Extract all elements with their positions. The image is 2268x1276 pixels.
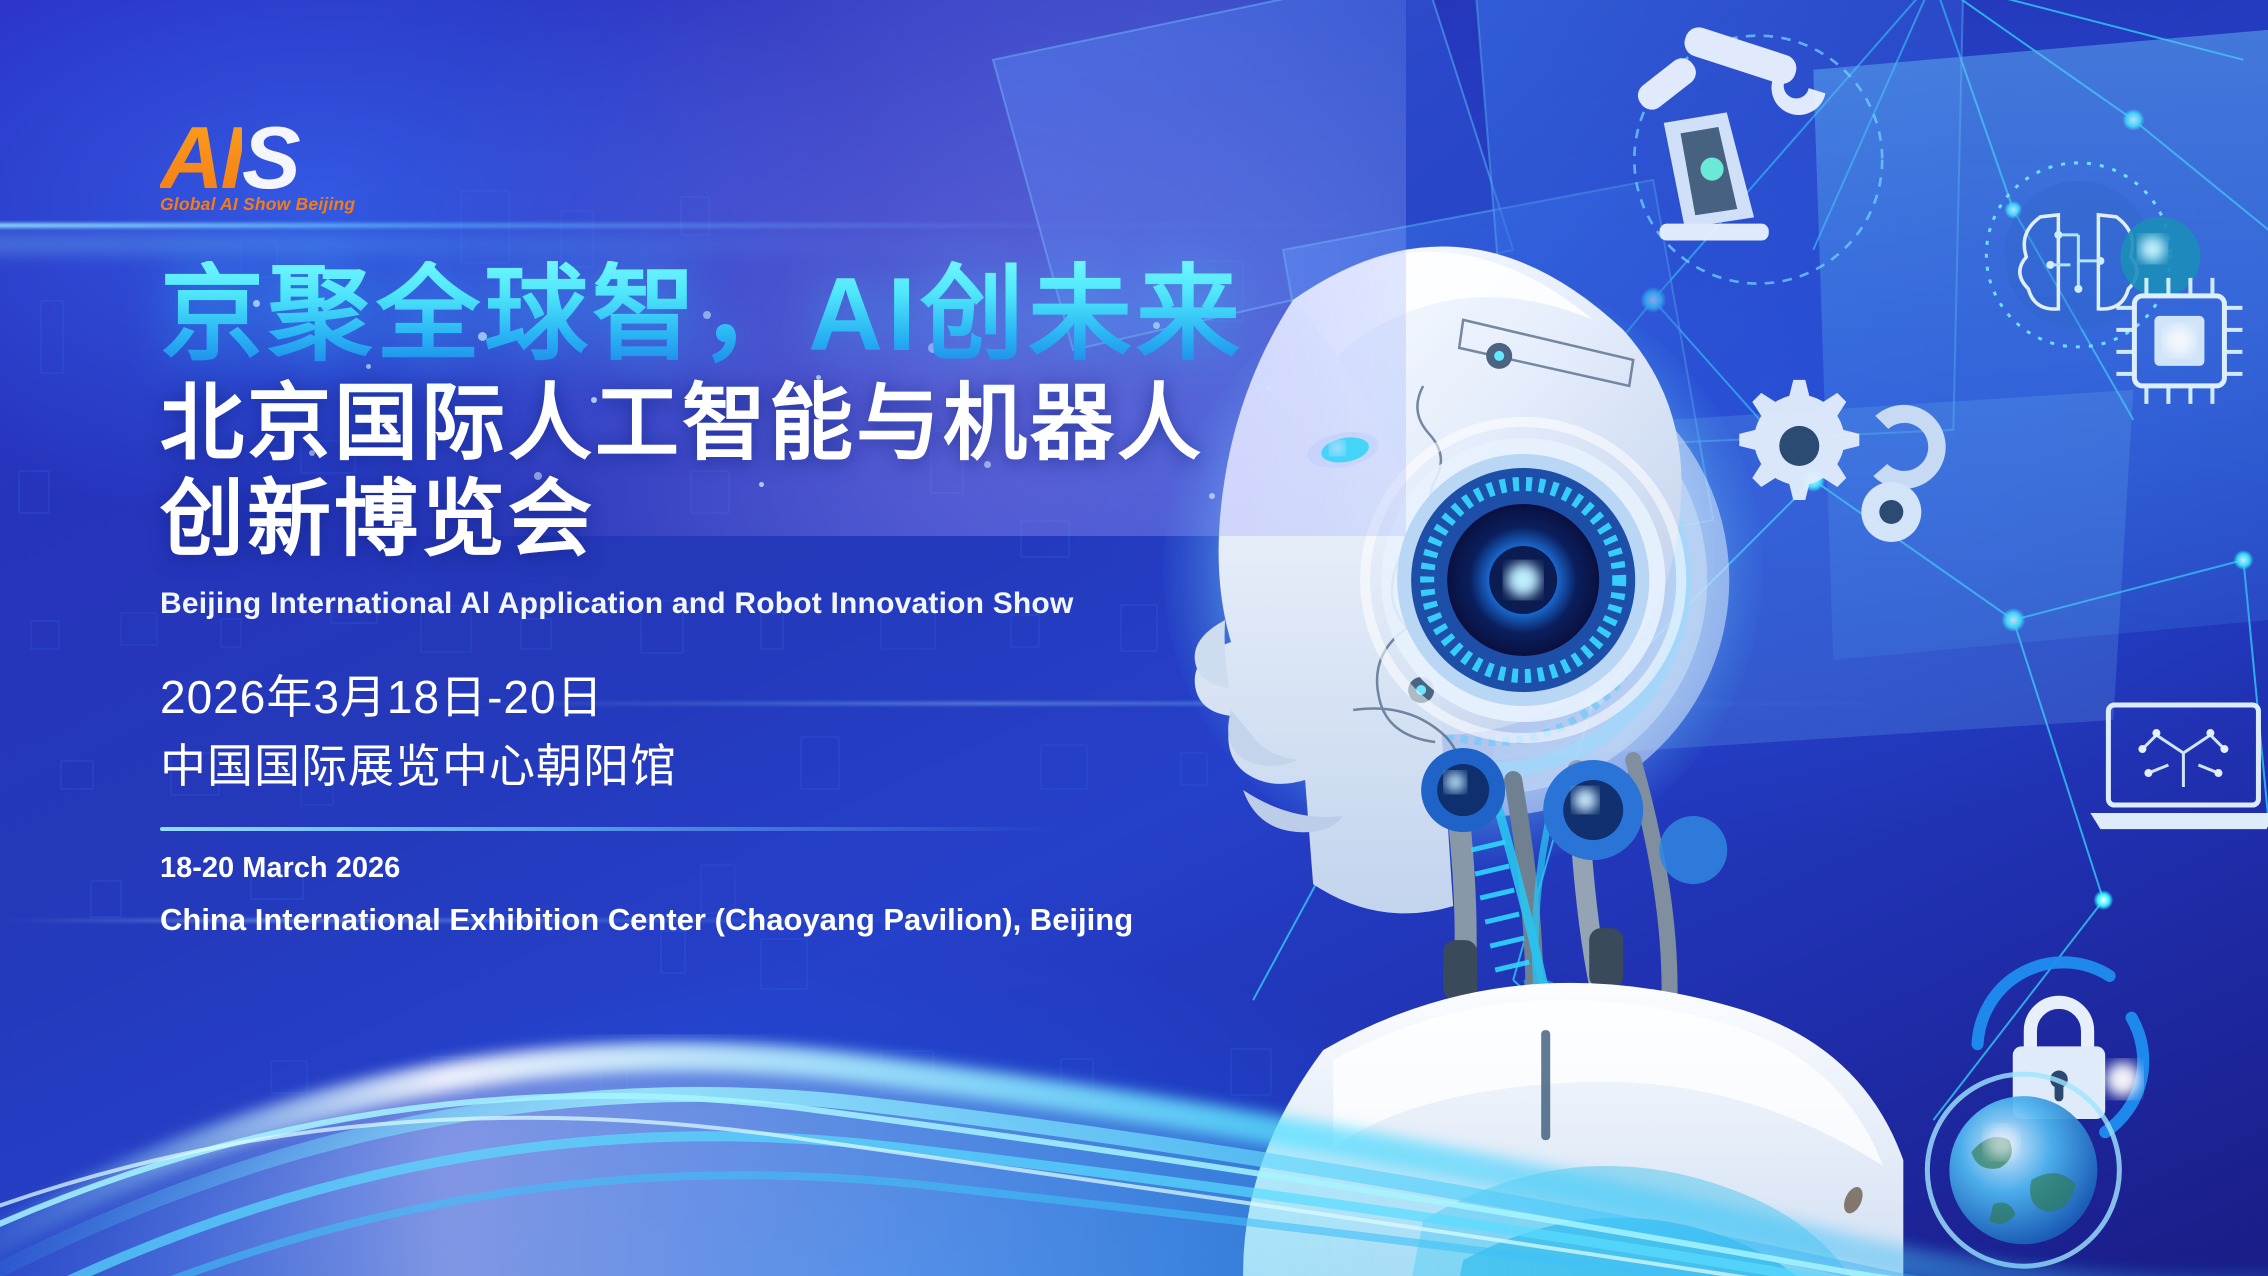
ais-logo: AIS Global AI Show Beijing xyxy=(160,116,360,215)
event-date-cn: 2026年3月18日-20日 xyxy=(160,663,1420,732)
logo-s-text: S xyxy=(242,108,298,207)
cpu-chip-icon xyxy=(2116,278,2242,404)
divider xyxy=(160,827,1060,831)
event-details: 2026年3月18日-20日 中国国际展览中心朝阳馆 18-20 March 2… xyxy=(160,663,1420,937)
subtitle-en: Beijing International Al Application and… xyxy=(160,587,1420,621)
event-venue-cn: 中国国际展览中心朝阳馆 xyxy=(160,732,1420,801)
laptop-circuit-icon xyxy=(2090,705,2268,829)
subtitle-cn-line1: 北京国际人工智能与机器人 xyxy=(160,378,1420,469)
subtitle-cn-line2: 创新博览会 xyxy=(160,474,1420,565)
event-promo-banner: AIS Global AI Show Beijing 京聚全球智，AI创未来 北… xyxy=(0,0,2268,1276)
banner-content: AIS Global AI Show Beijing 京聚全球智，AI创未来 北… xyxy=(160,116,1420,937)
event-venue-en: China International Exhibition Center (C… xyxy=(160,903,1420,937)
logo-tagline: Global AI Show Beijing xyxy=(160,194,360,215)
event-date-en: 18-20 March 2026 xyxy=(160,853,1420,885)
logo-ai-text: AI xyxy=(160,108,242,207)
page-title: 京聚全球智，AI创未来 xyxy=(160,261,1420,369)
logo-wordmark: AIS xyxy=(160,116,360,200)
